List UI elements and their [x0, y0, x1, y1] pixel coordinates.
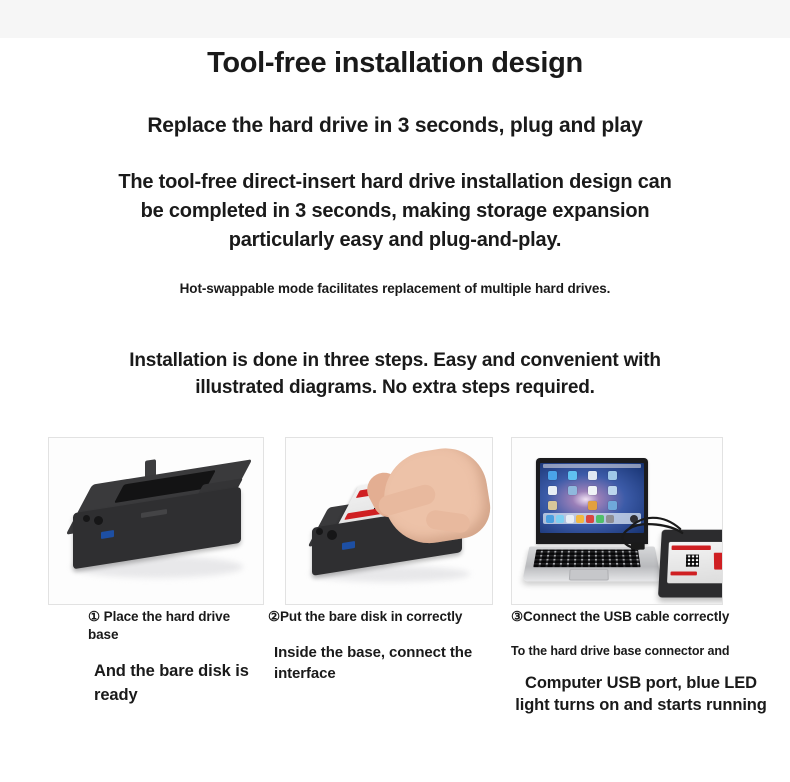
laptop-dock-illustration — [512, 438, 722, 604]
dock-app-icon — [606, 515, 614, 523]
dock-app-icon — [586, 515, 594, 523]
step-3-lead-text: Connect the USB cable correctly — [523, 609, 729, 624]
step-2-lead-text: Put the bare disk in correctly — [280, 609, 462, 624]
dock-illustration — [49, 438, 263, 604]
hot-swap-note: Hot-swappable mode facilitates replaceme… — [0, 281, 790, 296]
power-button — [83, 515, 90, 522]
app-icon — [568, 486, 577, 495]
hard-drive — [667, 542, 723, 583]
top-band — [0, 0, 790, 38]
app-icon — [608, 486, 617, 495]
step-image-1 — [48, 437, 264, 605]
dock-app-icon — [576, 515, 584, 523]
keyboard — [533, 549, 640, 567]
step-1-marker: ① — [88, 609, 100, 624]
step-1-lead: ① Place the hard drive base — [88, 608, 263, 644]
dock-app-icon — [596, 515, 604, 523]
trackpad — [569, 569, 609, 581]
step-3-sub: Computer USB port, blue LED light turns … — [511, 672, 771, 717]
power-button — [316, 528, 323, 535]
step-captions-row: ① Place the hard drive base And the bare… — [0, 608, 790, 782]
power-jack — [94, 516, 103, 525]
hand-insert-illustration — [286, 438, 492, 604]
app-icon — [608, 501, 617, 510]
app-icon — [548, 471, 557, 480]
step-caption-2: ②Put the bare disk in correctly Inside t… — [268, 608, 493, 684]
laptop-screen — [536, 458, 648, 544]
steps-intro: Installation is done in three steps. Eas… — [85, 348, 705, 402]
app-icon — [588, 486, 597, 495]
dock-app-icon — [566, 515, 574, 523]
intro-text-block: Tool-free installation design Replace th… — [0, 38, 790, 402]
step-image-2 — [285, 437, 493, 605]
drive-label-stripe — [672, 545, 711, 550]
step-3-marker: ③ — [511, 609, 523, 624]
desktop-wallpaper — [540, 463, 644, 533]
app-icon — [588, 471, 597, 480]
trash-icon — [630, 515, 638, 523]
qr-code-icon — [686, 555, 699, 567]
app-icon — [548, 501, 557, 510]
desktop-icons — [546, 469, 618, 513]
app-icon — [548, 486, 557, 495]
step-caption-1: ① Place the hard drive base And the bare… — [88, 608, 263, 707]
drive-label-stripe — [670, 572, 697, 576]
step-3-lead: ③Connect the USB cable correctly — [511, 608, 771, 626]
page-title: Tool-free installation design — [0, 48, 790, 80]
drive-label-block — [714, 553, 723, 570]
laptop-base — [522, 546, 661, 581]
power-jack — [327, 530, 337, 540]
dock-app-icon — [556, 515, 564, 523]
step-image-3 — [511, 437, 723, 605]
body-paragraph: The tool-free direct-insert hard drive i… — [115, 168, 675, 255]
step-caption-3: ③Connect the USB cable correctly To the … — [511, 608, 771, 717]
os-dock-bar — [543, 513, 641, 524]
step-2-lead: ②Put the bare disk in correctly — [268, 608, 493, 626]
dock-body — [658, 530, 723, 598]
app-icon — [588, 501, 597, 510]
step-1-sub: And the bare disk is ready — [88, 660, 263, 706]
step-1-lead-text: Place the hard drive base — [88, 609, 230, 642]
app-icon — [568, 471, 577, 480]
step-2-marker: ② — [268, 609, 280, 624]
step-2-sub: Inside the base, connect the interface — [268, 642, 493, 684]
menu-bar — [543, 464, 641, 468]
step-images-row — [0, 437, 790, 607]
step-3-lead2: To the hard drive base connector and — [511, 644, 771, 658]
app-icon — [608, 471, 617, 480]
dock-app-icon — [546, 515, 554, 523]
page-subtitle: Replace the hard drive in 3 seconds, plu… — [0, 114, 790, 138]
